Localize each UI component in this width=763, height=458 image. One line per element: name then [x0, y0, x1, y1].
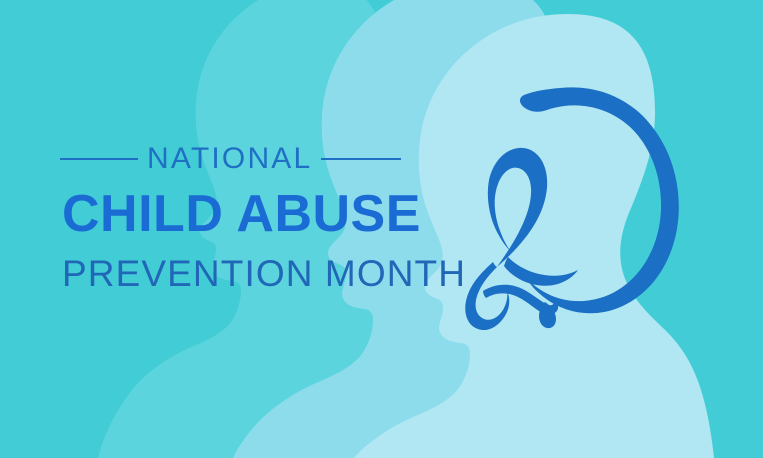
poster-artwork	[0, 0, 763, 458]
awareness-poster: NATIONAL CHILD ABUSE PREVENTION MONTH	[0, 0, 763, 458]
